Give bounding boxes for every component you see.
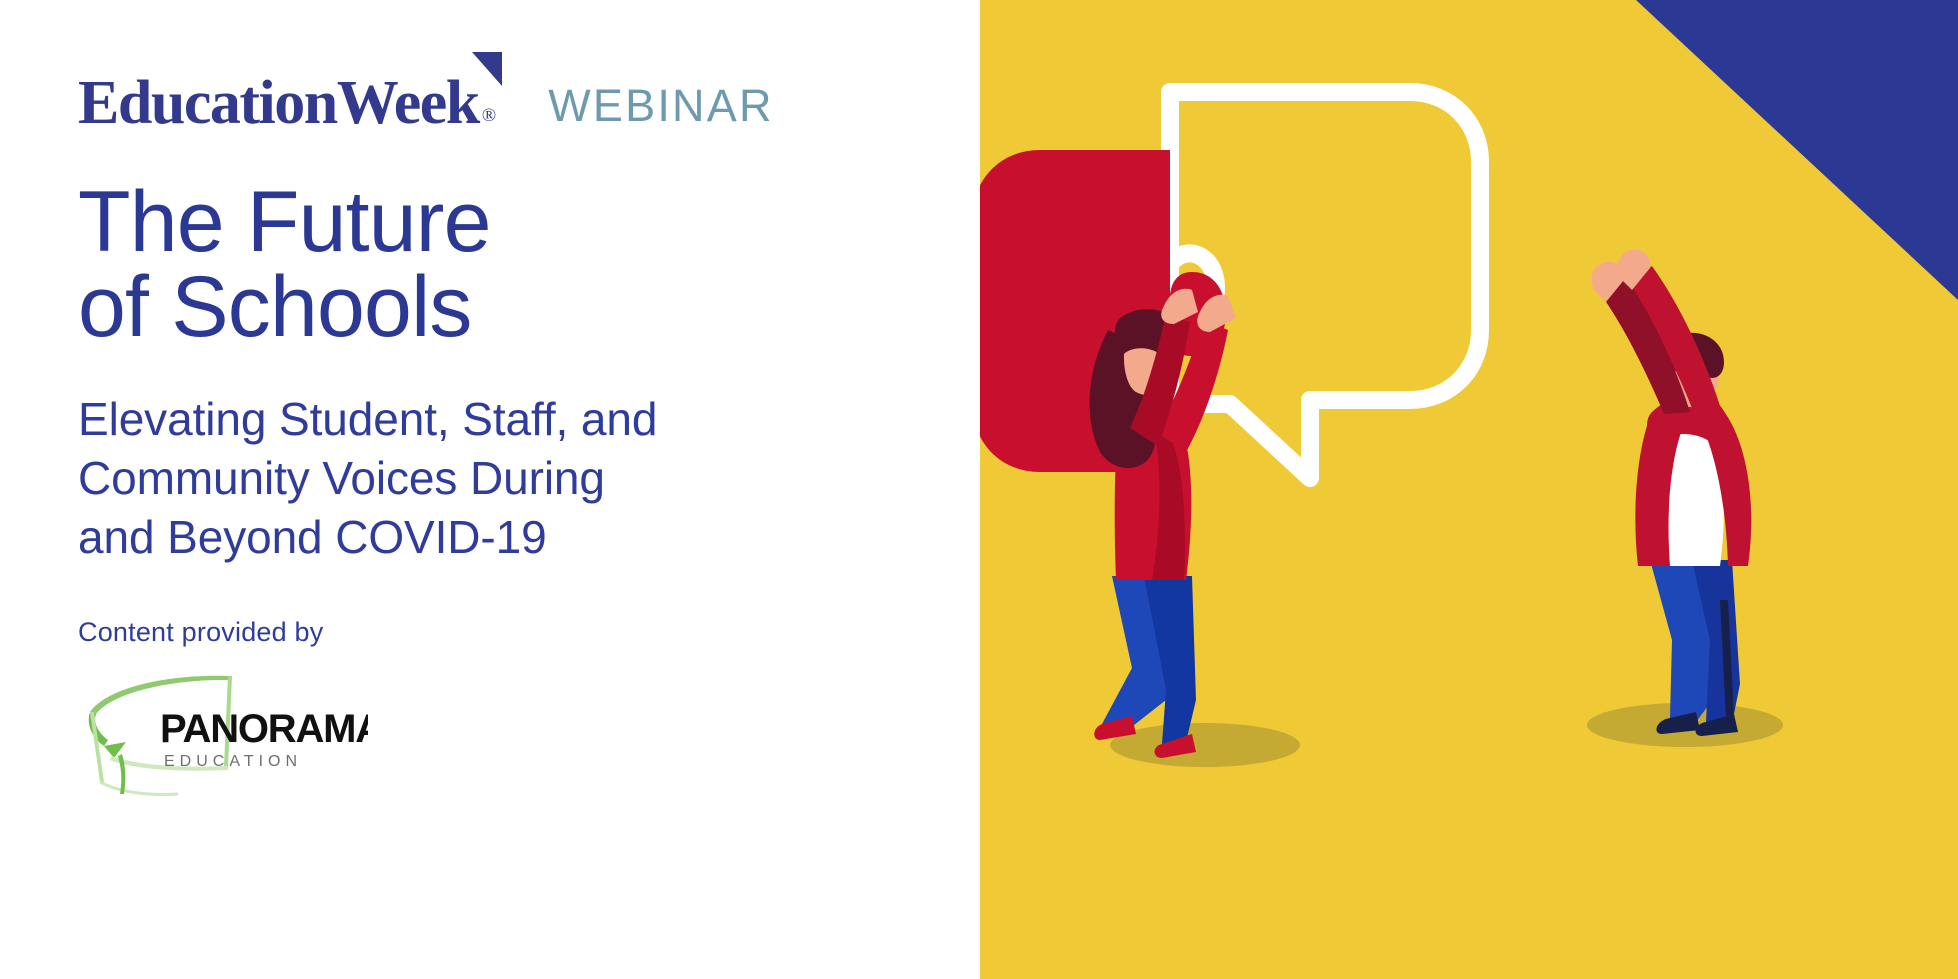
page-title: The Future of Schools (78, 180, 980, 350)
registered-trademark-icon: ® (482, 105, 496, 127)
education-week-wordmark: EducationWeek (78, 72, 479, 134)
page-subtitle: Elevating Student, Staff, and Community … (78, 390, 980, 567)
shadow-woman (1110, 723, 1300, 767)
panorama-tagline-text: EDUCATION (164, 753, 302, 770)
panorama-wordmark-text: PANORAMA (160, 707, 368, 751)
education-week-logo[interactable]: EducationWeek ® (78, 72, 496, 134)
illustration-panel (980, 0, 1958, 979)
content-provided-by-label: Content provided by (78, 617, 980, 648)
left-text-panel: EducationWeek ® WEBINAR The Future of Sc… (0, 0, 980, 979)
puzzle-illustration (980, 0, 1958, 979)
brand-header: EducationWeek ® WEBINAR (78, 62, 980, 134)
woman-reaching-up (1090, 289, 1236, 758)
panorama-education-logo[interactable]: PANORAMA EDUCATION (78, 670, 368, 800)
flag-corner-icon (472, 52, 502, 86)
man-reaching-up (1592, 250, 1752, 736)
webinar-promo-banner: EducationWeek ® WEBINAR The Future of Sc… (0, 0, 1958, 979)
webinar-label: WEBINAR (548, 83, 773, 128)
